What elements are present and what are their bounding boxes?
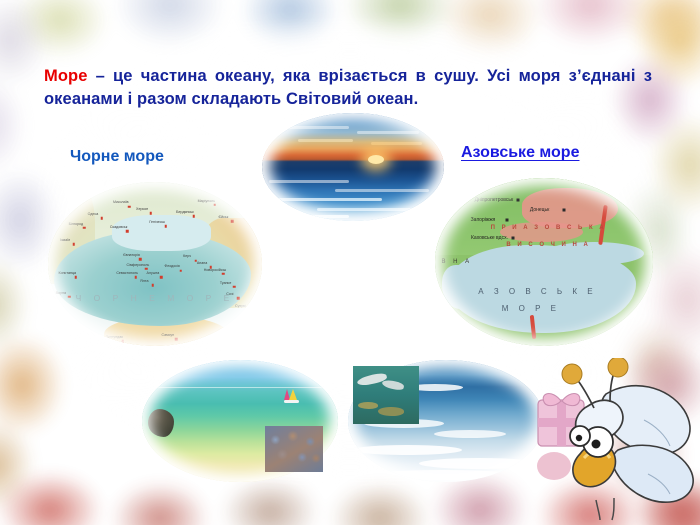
land-caucasus	[198, 218, 262, 308]
slide-root: Море – це частина океану, яка врізається…	[0, 0, 700, 525]
sunset-over-sea-photo	[262, 113, 444, 221]
city-label: Маріуполь	[198, 199, 215, 203]
caption-black-sea: Чорне море	[70, 148, 164, 166]
city-label: Самсун	[161, 333, 174, 337]
sailboat-sail-yellow	[289, 389, 297, 400]
lead-body-text: – це частина океану, яка врізається в су…	[44, 67, 652, 108]
city-label: Одеса	[88, 212, 99, 216]
city-label: Донецьк	[530, 207, 549, 213]
city-marker	[164, 225, 167, 228]
city-marker	[175, 338, 178, 341]
city-label: Сухумі	[235, 304, 246, 308]
city-marker	[512, 237, 515, 240]
city-label: Ялта	[140, 279, 148, 283]
city-marker	[222, 273, 225, 276]
city-marker	[179, 269, 182, 272]
wave-streak	[266, 215, 350, 218]
land-west	[48, 182, 95, 284]
cloud-streak	[371, 142, 422, 145]
butterfly-leg	[612, 498, 614, 520]
city-label: Зонгулдак	[106, 335, 123, 339]
city-marker	[214, 204, 217, 207]
dolphin-shape	[382, 379, 405, 391]
city-marker	[562, 208, 565, 211]
fish-shape	[358, 402, 378, 409]
city-marker	[122, 340, 125, 343]
city-marker	[68, 296, 71, 299]
west-region-label: В Н А	[441, 259, 472, 265]
azov-sea-map-canvas: П Р И А З О В С Ь К А В И С О Ч И Н А В …	[435, 178, 653, 346]
city-marker	[134, 276, 137, 279]
rock-shape	[148, 409, 174, 437]
wave-streak	[335, 189, 430, 192]
black-sea-map-canvas: МиколаївОдесаХерсонБілгородСкадовськГені…	[48, 182, 262, 346]
cloud-streak	[277, 126, 350, 129]
city-label: Миколаїв	[113, 200, 129, 204]
wave-streak	[269, 180, 349, 183]
city-marker	[237, 297, 240, 300]
lead-paragraph: Море – це частина океану, яка врізається…	[44, 65, 652, 112]
syvash-water	[442, 265, 477, 309]
black-sea-label: Ч О Р Н Е М О Р Е	[76, 293, 235, 303]
city-marker	[516, 198, 519, 201]
land-crimea	[121, 248, 177, 279]
city-marker	[192, 215, 195, 218]
pebbles-inset-photo	[265, 426, 323, 472]
antenna-ball-left	[562, 364, 582, 384]
city-marker	[149, 212, 152, 215]
wave-crest	[352, 445, 462, 455]
cloud-streak	[357, 131, 419, 134]
wave-streak	[273, 198, 382, 201]
sun-icon	[368, 155, 384, 164]
caption-azov-sea: Азовське море	[461, 144, 579, 162]
city-label: Туапсе	[220, 281, 232, 285]
city-label: Херсон	[136, 207, 148, 211]
city-label: Алушта	[146, 271, 159, 275]
priazov-upland-shape-2	[500, 222, 583, 242]
river-highlight-south	[530, 315, 536, 339]
city-marker	[194, 259, 197, 262]
azov-sea-map: П Р И А З О В С Ь К А В И С О Ч И Н А В …	[435, 178, 653, 346]
city-marker	[160, 276, 163, 279]
city-label: Запоріжжя	[471, 217, 496, 223]
azov-water-east	[544, 242, 644, 266]
city-marker	[209, 266, 212, 269]
wave-crest	[368, 470, 518, 480]
city-marker	[139, 258, 142, 261]
city-label: Євпаторія	[123, 253, 140, 257]
city-label: Констанца	[58, 271, 76, 275]
city-label: Скадовськ	[110, 225, 127, 229]
sailboat-hull	[284, 400, 299, 403]
city-label: Сочі	[226, 292, 233, 296]
horizon-line	[142, 387, 338, 389]
city-marker	[128, 205, 131, 208]
city-label: Керч	[183, 254, 191, 258]
priazov-upland-label-2: В И С О Ч И Н А	[506, 242, 590, 248]
river-highlight-east	[598, 205, 608, 245]
city-marker	[100, 217, 103, 220]
city-marker	[231, 220, 234, 223]
city-marker	[145, 268, 148, 271]
butterfly-leg	[596, 500, 600, 520]
city-label: Генічеськ	[149, 220, 165, 224]
city-label: Варна	[56, 291, 66, 295]
antenna-ball-right	[608, 358, 628, 377]
city-label: Феодосія	[164, 264, 179, 268]
wave-crest	[419, 458, 539, 469]
city-marker	[233, 286, 236, 289]
city-marker	[505, 219, 508, 222]
city-marker	[72, 243, 75, 246]
city-marker	[152, 284, 155, 287]
butterfly-mascot-with-gift	[536, 358, 700, 525]
fish-shape	[378, 407, 404, 416]
priazov-upland-shape	[522, 188, 618, 228]
land-steppe	[435, 178, 653, 255]
azov-sea-label-line2: М О Р Е	[502, 303, 560, 315]
black-sea-water	[54, 231, 251, 326]
sunset-artwork	[262, 113, 444, 221]
city-label: Ізмаїл	[60, 238, 70, 242]
city-label: Сімферополь	[127, 263, 150, 267]
city-label: Дніпропетровськ	[475, 197, 514, 203]
city-marker	[126, 230, 129, 233]
city-marker	[248, 309, 251, 312]
black-sea-map: МиколаївОдесаХерсонБілгородСкадовськГені…	[48, 182, 262, 346]
city-label: Каховське вдсх.	[471, 235, 508, 241]
sea-of-azov-water	[112, 215, 210, 251]
cloud-streak	[298, 139, 353, 142]
city-marker	[75, 276, 78, 279]
butterfly-mascot-svg	[536, 358, 700, 525]
city-label: Новоросійськ	[204, 268, 226, 272]
priazov-upland-label-1: П Р И А З О В С Ь К А	[491, 225, 607, 231]
city-marker	[83, 227, 86, 230]
city-label: Севастополь	[116, 271, 138, 275]
city-label: Єйськ	[219, 215, 229, 219]
city-label: Бердянськ	[176, 210, 194, 214]
dolphins-fish-inset-photo	[353, 366, 419, 424]
land-turkey	[104, 316, 228, 346]
small-creature-shape	[537, 452, 571, 480]
city-label: Білгород	[69, 222, 84, 226]
lead-highlight-term: Море	[44, 67, 87, 85]
wave-crest	[434, 430, 506, 438]
azov-sea-label-line1: А З О В С Ь К Е	[478, 286, 596, 298]
wave-streak	[317, 208, 423, 211]
sailboat-sail-pink	[284, 389, 290, 400]
city-label: Анапа	[197, 261, 207, 265]
azov-water	[448, 245, 635, 332]
